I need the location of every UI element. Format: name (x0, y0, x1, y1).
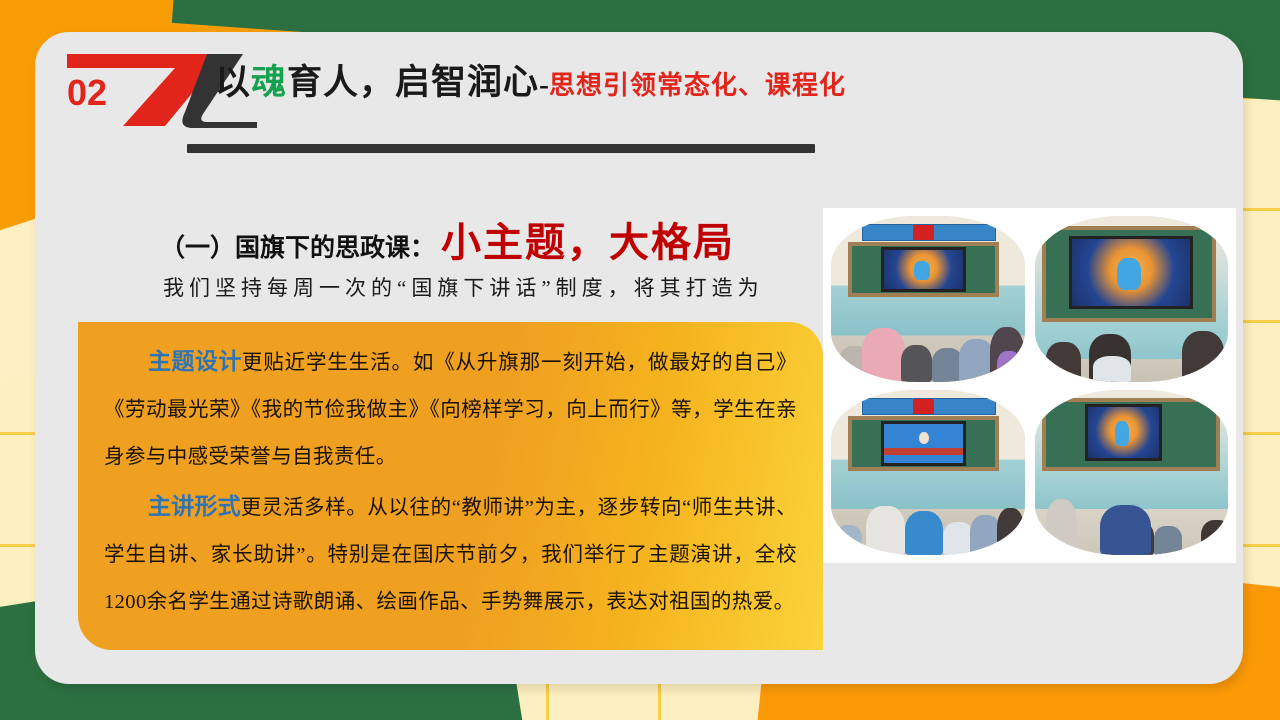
paragraph-1-key: 主题设计 (148, 348, 242, 374)
page-title: 以魂育人，启智润心-思想引领常态化、课程化 (215, 54, 846, 105)
classroom-photo-4 (1035, 390, 1229, 556)
content-card: 02 以魂育人，启智润心-思想引领常态化、课程化 （一）国旗下的思政课：小主题，… (35, 32, 1243, 684)
classroom-photo-3 (831, 390, 1025, 556)
slide-root: 02 以魂育人，启智润心-思想引领常态化、课程化 （一）国旗下的思政课：小主题，… (0, 0, 1280, 720)
classroom-photo-1 (831, 216, 1025, 382)
section-number: 02 (67, 72, 107, 114)
title-underline-rule (187, 144, 815, 153)
title-dash: - (539, 68, 549, 101)
title-highlight-char: 魂 (251, 63, 287, 102)
paragraph-2: 主讲形式更灵活多样。从以往的“教师讲”为主，逐步转向“师生共讲、学生自讲、家长助… (104, 483, 797, 626)
subheading-accent: 小主题，大格局 (441, 221, 735, 265)
slide-header: 02 以魂育人，启智润心-思想引领常态化、课程化 (35, 32, 1243, 142)
paragraph-1: 主题设计更贴近学生生活。如《从升旗那一刻开始，做最好的自己》《劳动最光荣》《我的… (104, 338, 797, 481)
title-part-1: 以 (215, 63, 251, 102)
classroom-photo-2 (1035, 216, 1229, 382)
title-part-2: 育人，启智润心 (287, 63, 539, 102)
lead-sentence: 我们坚持每周一次的“国旗下讲话”制度，将其打造为 (163, 272, 764, 302)
title-subtitle: 思想引领常态化、课程化 (549, 71, 846, 100)
paragraph-2-key: 主讲形式 (148, 493, 241, 519)
body-text-panel: 主题设计更贴近学生生活。如《从升旗那一刻开始，做最好的自己》《劳动最光荣》《我的… (78, 322, 823, 650)
photo-collage (823, 208, 1236, 563)
section-subheading: （一）国旗下的思政课：小主题，大格局 (160, 210, 735, 268)
subheading-label: （一）国旗下的思政课： (160, 234, 435, 262)
